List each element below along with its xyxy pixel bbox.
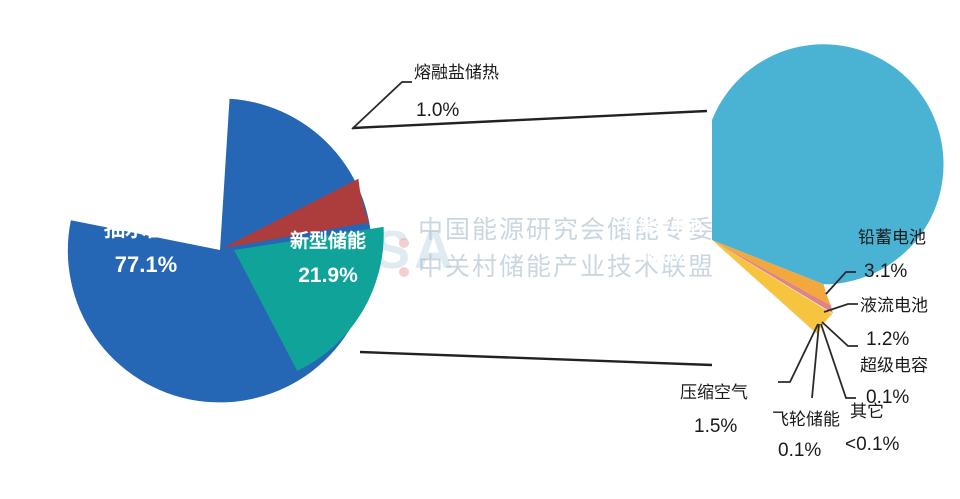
leader-line-molten-salt <box>352 82 412 129</box>
bridge-line-top <box>353 111 707 128</box>
out-value-other: <0.1% <box>845 434 900 455</box>
chart-canvas: CNESA 中国能源研究会储能专委会 中关村储能产业技术联盟 抽水蓄能 77.1… <box>0 0 960 499</box>
leader-line-other <box>821 324 856 398</box>
right-callout-flywheel: 飞轮储能 0.1% <box>772 324 840 461</box>
right-pie-group: 锂离子电池 94.0% <box>622 44 944 333</box>
left-callout-molten-salt: 熔融盐储热 1.0% <box>352 63 499 129</box>
bridge-line-bottom <box>360 352 712 365</box>
left-label-pumped-hydro: 抽水蓄能 <box>104 217 188 241</box>
leader-line-compressed-air <box>778 324 818 382</box>
out-value-molten-salt: 1.0% <box>416 100 459 121</box>
out-label-other: 其它 <box>850 402 884 421</box>
out-label-supercapacitor: 超级电容 <box>860 356 928 375</box>
left-value-new-storage: 21.9% <box>298 264 358 287</box>
right-callout-flow-battery: 液流电池 1.2% <box>824 296 928 350</box>
left-value-pumped-hydro: 77.1% <box>115 252 177 277</box>
left-label-new-storage: 新型储能 <box>290 229 366 252</box>
pie-chart-figure: CNESA 中国能源研究会储能专委会 中关村储能产业技术联盟 抽水蓄能 77.1… <box>0 0 960 499</box>
out-value-compressed-air: 1.5% <box>694 416 737 437</box>
out-label-compressed-air: 压缩空气 <box>680 383 748 402</box>
right-slice-lithium-ion[interactable] <box>712 44 944 284</box>
watermark-dot <box>399 238 409 248</box>
right-label-lithium-ion: 锂离子电池 <box>622 217 702 236</box>
out-label-flow-battery: 液流电池 <box>860 296 928 315</box>
out-label-lead-acid: 铅蓄电池 <box>858 228 926 247</box>
left-pie-group: 抽水蓄能 77.1% 新型储能 21.9% <box>68 99 384 403</box>
watermark-dot <box>399 267 409 277</box>
out-value-flywheel: 0.1% <box>778 440 821 461</box>
out-label-molten-salt: 熔融盐储热 <box>414 63 499 82</box>
out-value-flow-battery: 1.2% <box>866 329 909 350</box>
right-value-lithium-ion: 94.0% <box>638 249 686 268</box>
out-value-lead-acid: 3.1% <box>864 261 907 282</box>
out-label-flywheel: 飞轮储能 <box>772 410 840 429</box>
